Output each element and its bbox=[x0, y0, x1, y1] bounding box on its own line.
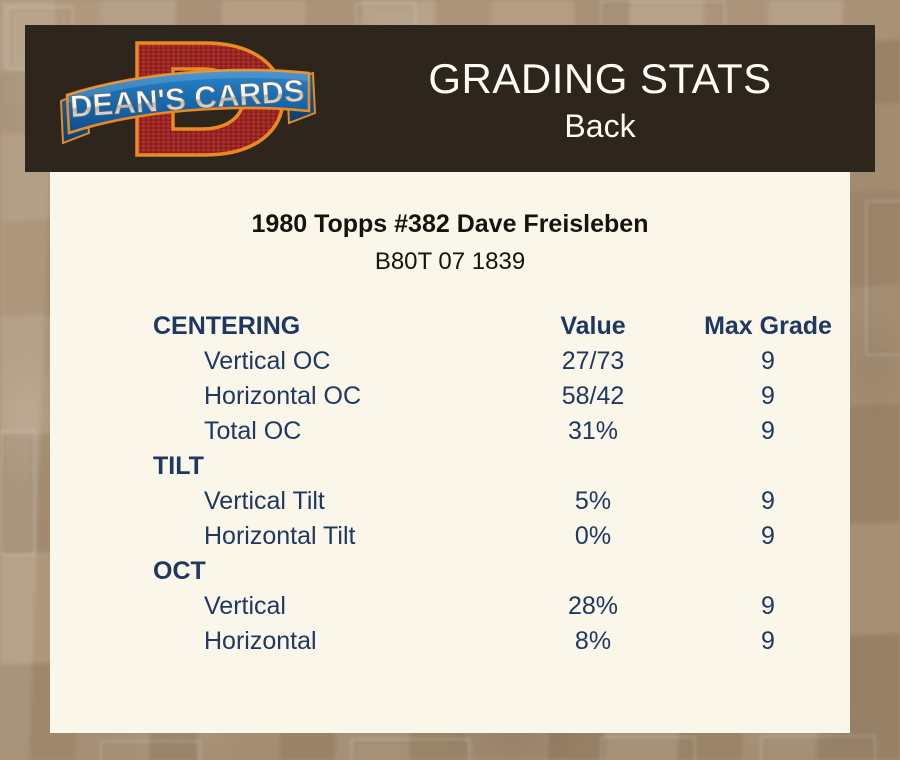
stat-label: Horizontal OC bbox=[153, 382, 503, 411]
section-header-centering: CENTERING bbox=[153, 312, 503, 341]
stat-value: 58/42 bbox=[503, 382, 683, 411]
stat-value: 27/73 bbox=[503, 347, 683, 376]
stat-value: 31% bbox=[503, 417, 683, 446]
stat-max-grade: 9 bbox=[683, 417, 853, 446]
section-header-tilt: TILT bbox=[153, 452, 503, 481]
stat-max-grade: 9 bbox=[683, 487, 853, 516]
stat-label: Vertical Tilt bbox=[153, 487, 503, 516]
background-card-frame bbox=[100, 740, 201, 760]
column-header-value: Value bbox=[503, 312, 683, 341]
stat-max-grade: 9 bbox=[683, 522, 853, 551]
stat-label: Vertical bbox=[153, 592, 503, 621]
content-panel: 1980 Topps #382 Dave Freisleben B80T 07 … bbox=[50, 172, 850, 733]
stat-label: Horizontal bbox=[153, 627, 503, 656]
section-header-row: OCT bbox=[153, 557, 853, 592]
background-card-frame bbox=[600, 736, 696, 760]
background-card-frame bbox=[865, 200, 900, 356]
section-header-oct: OCT bbox=[153, 557, 503, 586]
background-card-frame bbox=[350, 738, 471, 760]
table-header-row: CENTERINGValueMax Grade bbox=[153, 312, 853, 347]
stat-value: 5% bbox=[503, 487, 683, 516]
background-card-frame bbox=[760, 735, 876, 760]
table-row: Vertical Tilt5%9 bbox=[153, 487, 853, 522]
table-row: Vertical28%9 bbox=[153, 592, 853, 627]
deans-cards-logo[interactable]: DEAN'S CARDS bbox=[55, 29, 320, 169]
stat-max-grade: 9 bbox=[683, 347, 853, 376]
stat-value: 0% bbox=[503, 522, 683, 551]
table-row: Vertical OC27/739 bbox=[153, 347, 853, 382]
stat-label: Total OC bbox=[153, 417, 503, 446]
background-card-frame bbox=[0, 430, 36, 556]
section-header-row: TILT bbox=[153, 452, 853, 487]
stat-value: 28% bbox=[503, 592, 683, 621]
grading-stats-table: CENTERINGValueMax GradeVertical OC27/739… bbox=[153, 312, 853, 662]
grading-stats-page: DEAN'S CARDS GRADING STATS Back 1980 Top… bbox=[0, 0, 900, 760]
table-row: Total OC31%9 bbox=[153, 417, 853, 452]
page-title: GRADING STATS bbox=[325, 55, 875, 103]
page-subtitle: Back bbox=[325, 107, 875, 145]
table-row: Horizontal OC58/429 bbox=[153, 382, 853, 417]
stat-label: Horizontal Tilt bbox=[153, 522, 503, 551]
stat-value: 8% bbox=[503, 627, 683, 656]
table-row: Horizontal8%9 bbox=[153, 627, 853, 662]
stat-max-grade: 9 bbox=[683, 382, 853, 411]
stat-max-grade: 9 bbox=[683, 627, 853, 656]
header-bar: DEAN'S CARDS GRADING STATS Back bbox=[25, 25, 875, 172]
stat-label: Vertical OC bbox=[153, 347, 503, 376]
column-header-max-grade: Max Grade bbox=[683, 312, 853, 341]
stat-max-grade: 9 bbox=[683, 592, 853, 621]
table-row: Horizontal Tilt0%9 bbox=[153, 522, 853, 557]
card-title: 1980 Topps #382 Dave Freisleben bbox=[50, 210, 850, 239]
card-serial-number: B80T 07 1839 bbox=[50, 248, 850, 276]
